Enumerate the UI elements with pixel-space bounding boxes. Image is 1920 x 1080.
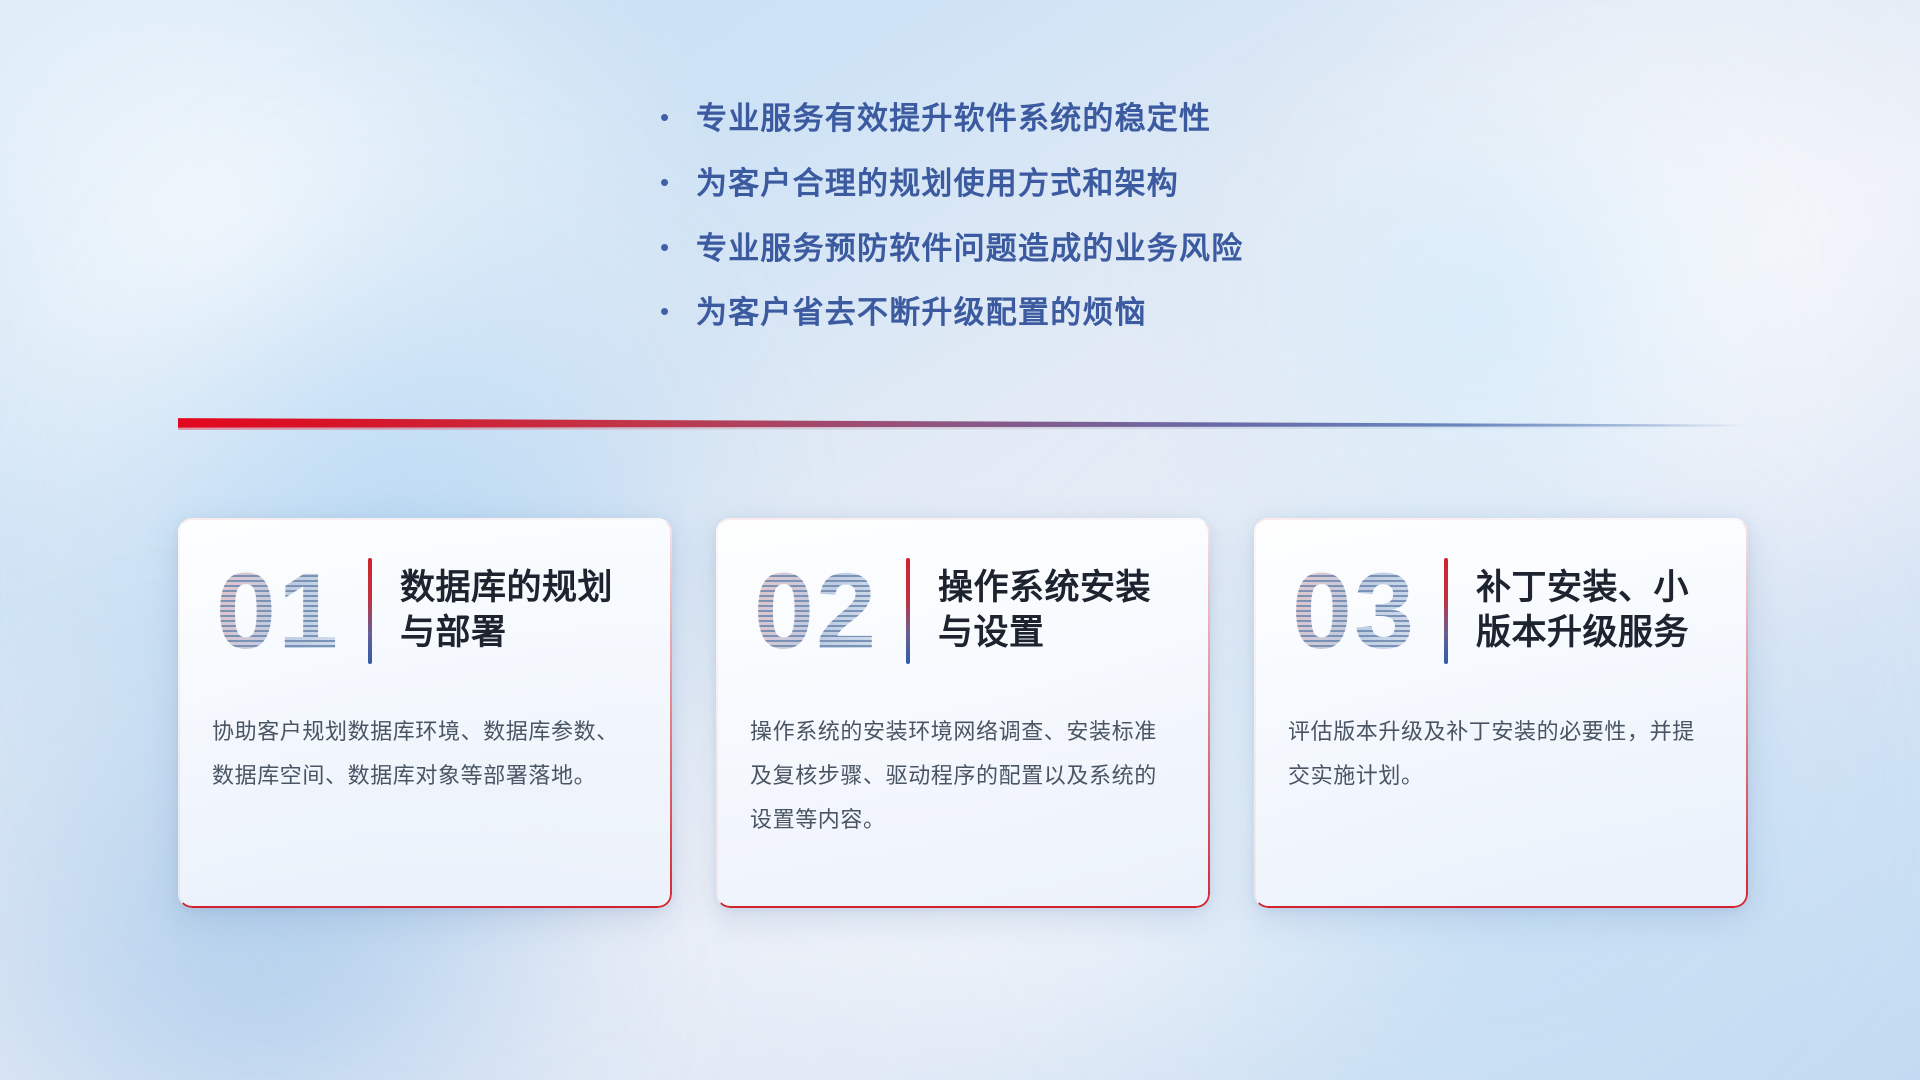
card-title: 操作系统安装与设置 xyxy=(938,566,1184,656)
bullet-text: 为客户合理的规划使用方式和架构 xyxy=(696,165,1179,204)
card-header: 01 数据库的规划与部署 xyxy=(178,518,672,704)
bullet-dot-icon: • xyxy=(660,169,696,195)
bullet-dot-icon: • xyxy=(660,104,696,130)
card-number-watermark: 03 xyxy=(1284,555,1424,667)
bullet-item: • 为客户合理的规划使用方式和架构 xyxy=(660,165,1520,204)
bullet-text: 专业服务有效提升软件系统的稳定性 xyxy=(696,100,1211,139)
card-number-text: 01 xyxy=(208,555,348,667)
bullet-text: 为客户省去不断升级配置的烦恼 xyxy=(696,294,1147,333)
bullet-item: • 专业服务预防软件问题造成的业务风险 xyxy=(660,230,1520,269)
benefits-bullet-list: • 专业服务有效提升软件系统的稳定性 • 为客户合理的规划使用方式和架构 • 专… xyxy=(660,100,1520,359)
card-title: 数据库的规划与部署 xyxy=(400,566,646,656)
bullet-text: 专业服务预防软件问题造成的业务风险 xyxy=(696,230,1243,269)
card-header: 03 补丁安装、小版本升级服务 xyxy=(1254,518,1748,704)
bullet-dot-icon: • xyxy=(660,234,696,260)
section-divider-shape xyxy=(178,416,1748,442)
card-accent-bar xyxy=(1444,558,1448,664)
slide-root: • 专业服务有效提升软件系统的稳定性 • 为客户合理的规划使用方式和架构 • 专… xyxy=(0,0,1920,1080)
card-number-watermark: 02 xyxy=(746,555,886,667)
card-accent-bar xyxy=(906,558,910,664)
card-description: 评估版本升级及补丁安装的必要性，并提交实施计划。 xyxy=(1254,704,1748,798)
service-card-01[interactable]: 01 数据库的规划与部署 协助客户规划数据库环境、数据库参数、数据库空间、数据库… xyxy=(178,518,672,908)
service-card-02[interactable]: 02 操作系统安装与设置 操作系统的安装环境网络调查、安装标准及复核步骤、驱动程… xyxy=(716,518,1210,908)
bullet-item: • 专业服务有效提升软件系统的稳定性 xyxy=(660,100,1520,139)
section-divider xyxy=(178,416,1748,442)
card-title: 补丁安装、小版本升级服务 xyxy=(1476,566,1722,656)
bullet-dot-icon: • xyxy=(660,298,696,324)
card-description: 协助客户规划数据库环境、数据库参数、数据库空间、数据库对象等部署落地。 xyxy=(178,704,672,798)
service-card-row: 01 数据库的规划与部署 协助客户规划数据库环境、数据库参数、数据库空间、数据库… xyxy=(178,518,1748,908)
card-description: 操作系统的安装环境网络调查、安装标准及复核步骤、驱动程序的配置以及系统的设置等内… xyxy=(716,704,1210,842)
card-number-text: 03 xyxy=(1284,555,1424,667)
card-header: 02 操作系统安装与设置 xyxy=(716,518,1210,704)
bullet-item: • 为客户省去不断升级配置的烦恼 xyxy=(660,294,1520,333)
card-number-text: 02 xyxy=(746,555,886,667)
card-accent-bar xyxy=(368,558,372,664)
card-number-watermark: 01 xyxy=(208,555,348,667)
service-card-03[interactable]: 03 补丁安装、小版本升级服务 评估版本升级及补丁安装的必要性，并提交实施计划。 xyxy=(1254,518,1748,908)
